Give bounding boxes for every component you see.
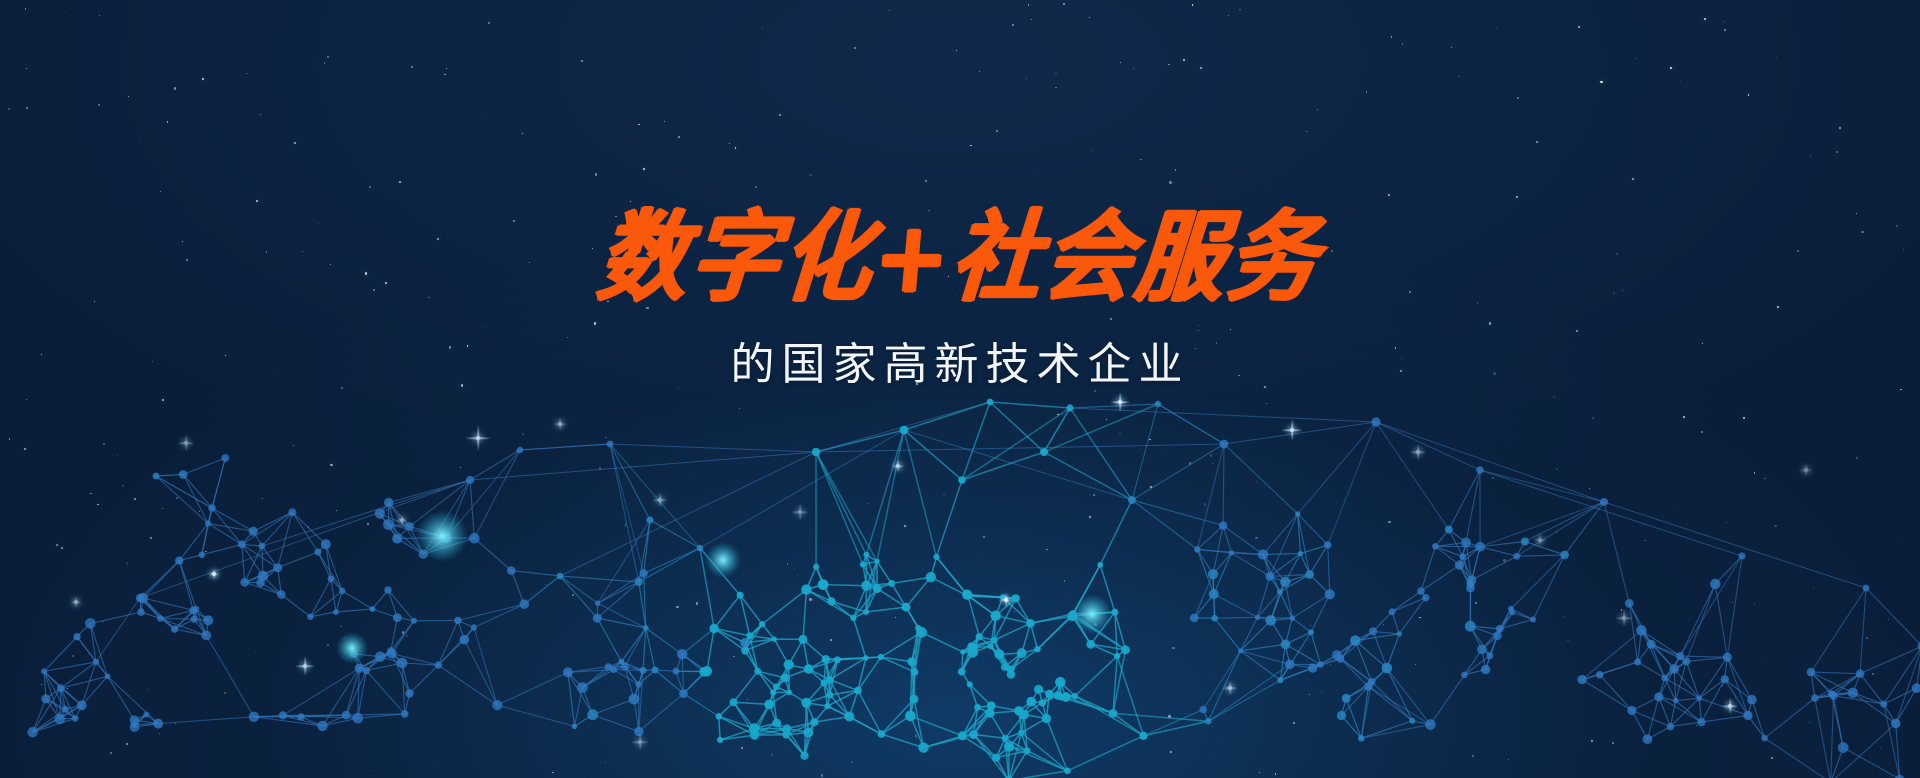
hero-banner: 数字化+社会服务 的国家高新技术企业 (0, 0, 1920, 778)
sparkle-stars (0, 0, 1920, 778)
